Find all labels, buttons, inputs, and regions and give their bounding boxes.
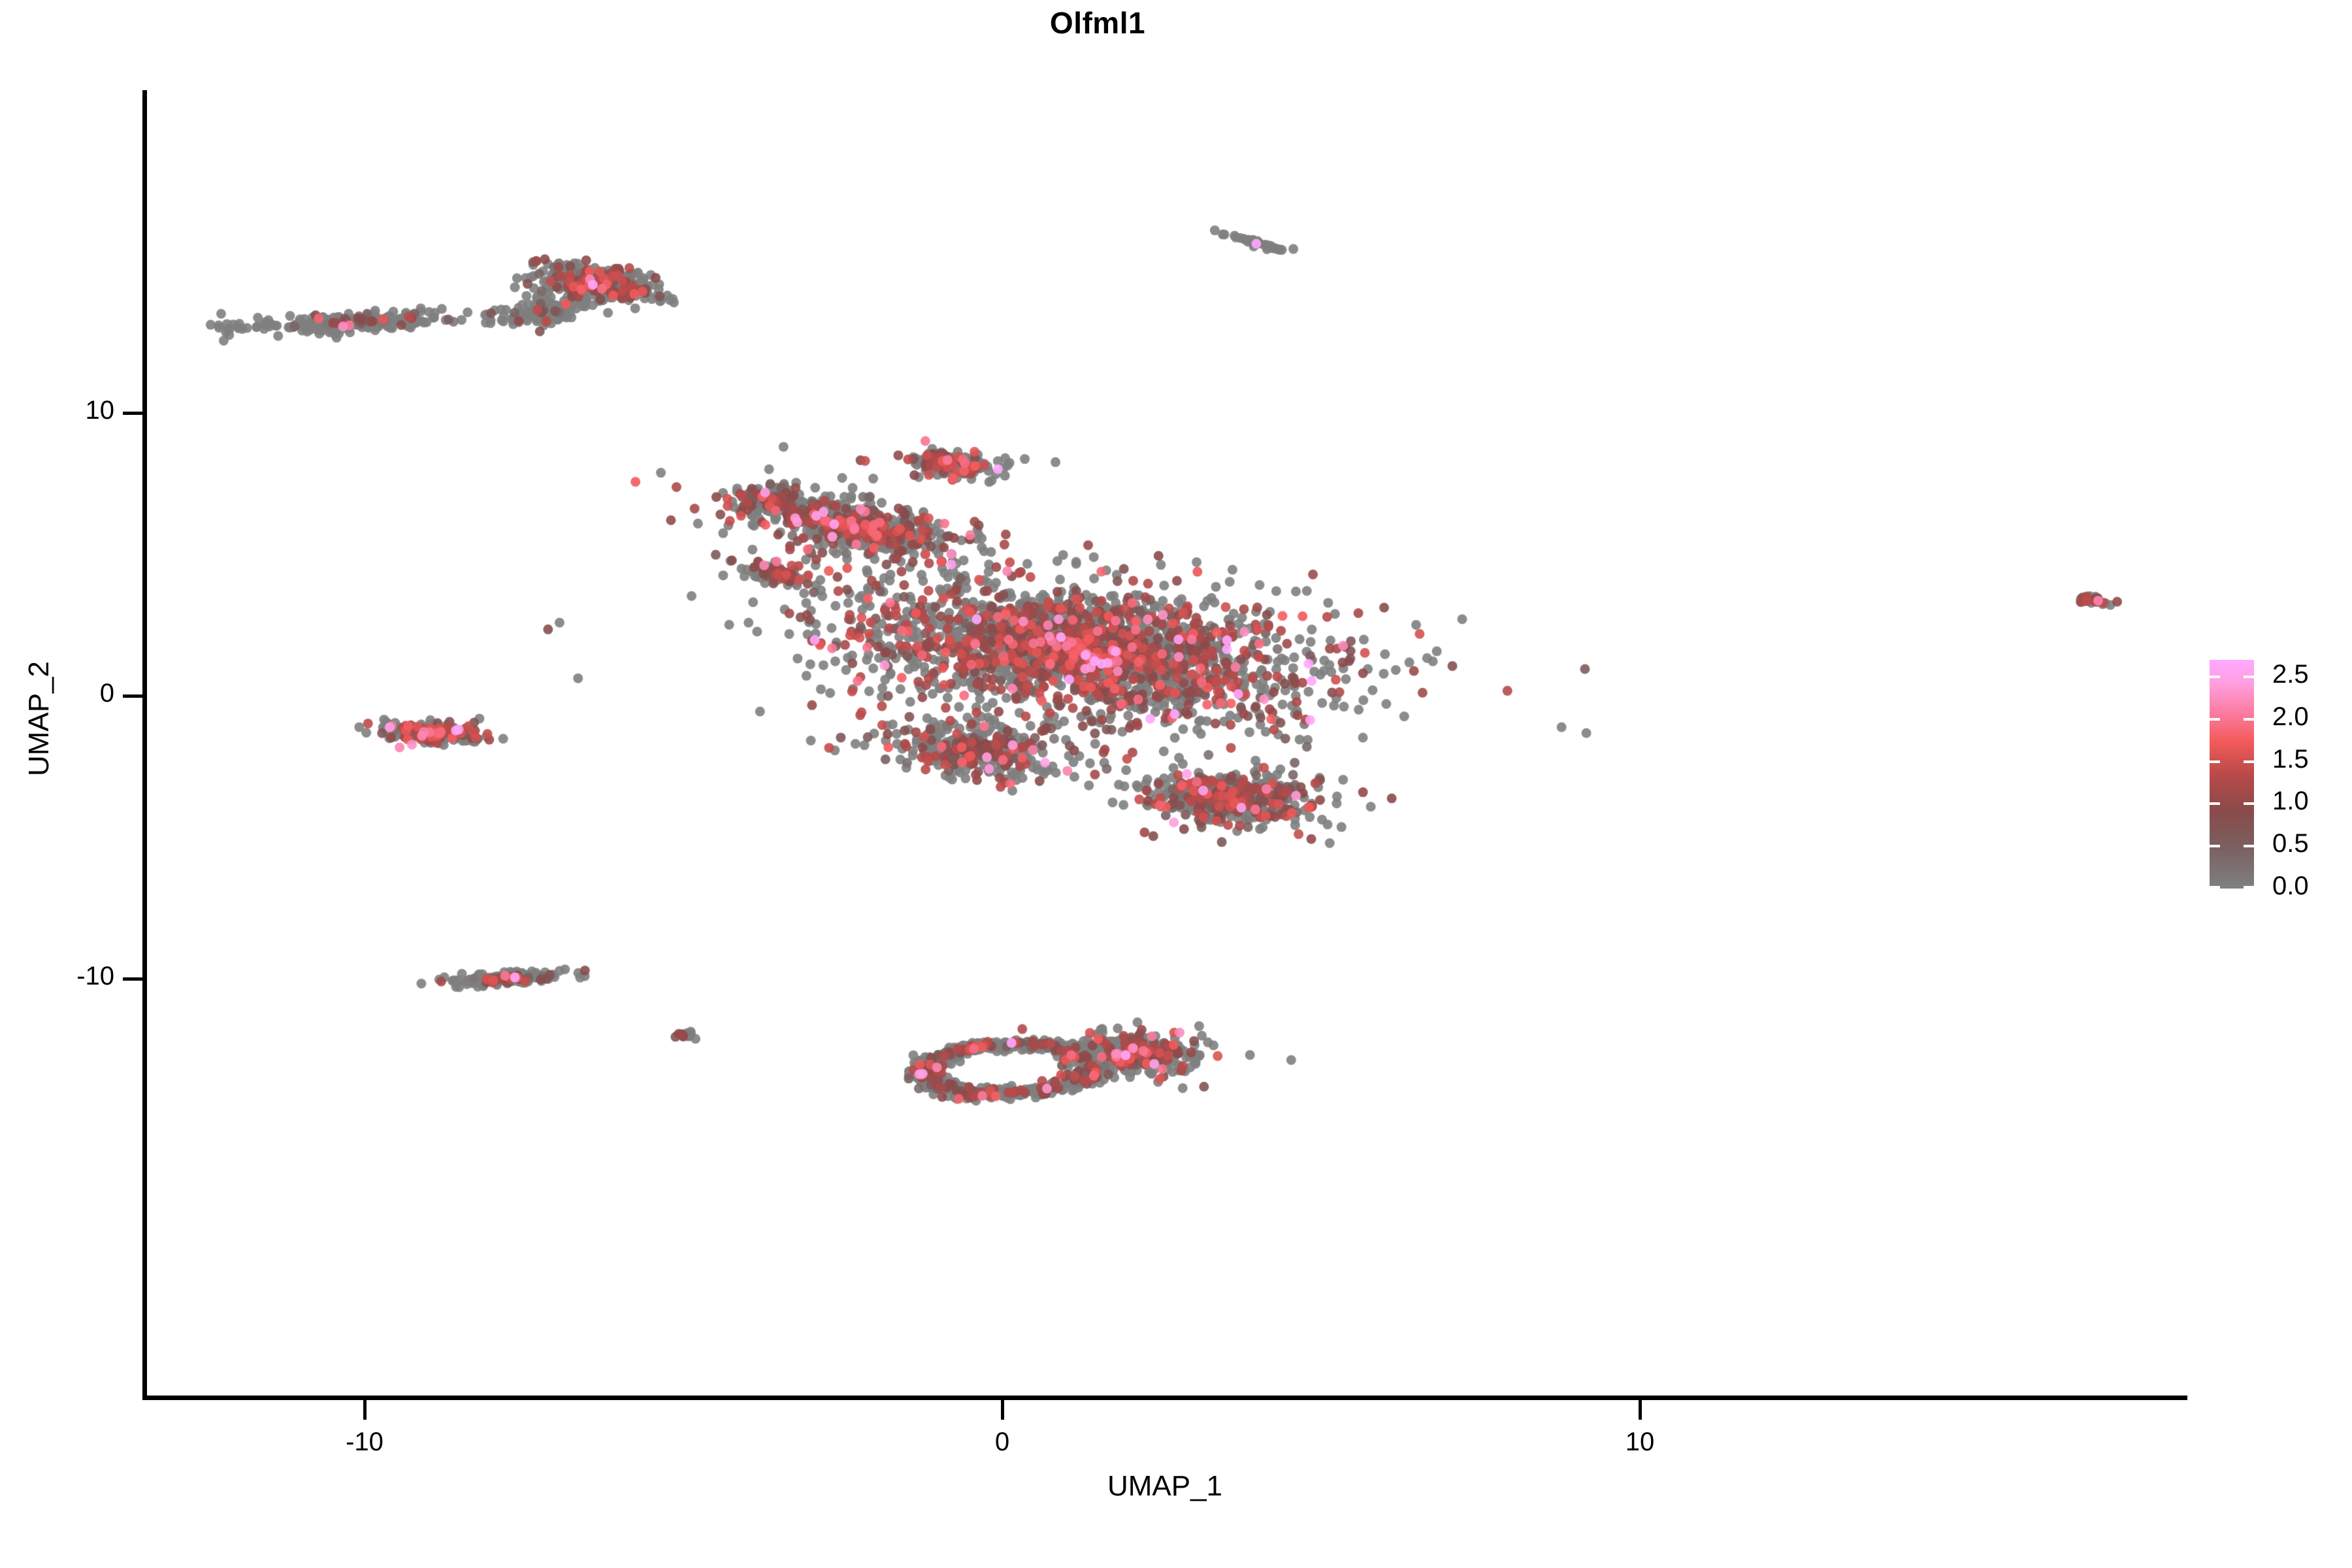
x-axis-title: UMAP_1 bbox=[142, 1470, 2187, 1503]
x-tick-label: 0 bbox=[937, 1428, 1068, 1457]
colorbar-tick-mark bbox=[2210, 718, 2220, 721]
colorbar-tick-mark bbox=[2210, 886, 2220, 889]
colorbar-tick-label: 0.5 bbox=[2272, 830, 2309, 857]
x-tick-label: 10 bbox=[1575, 1428, 1705, 1457]
plot-panel[interactable] bbox=[147, 91, 2185, 1396]
scatter-points-layer bbox=[147, 91, 2185, 1396]
colorbar-tick-mark bbox=[2210, 845, 2220, 847]
y-tick-mark bbox=[123, 412, 142, 415]
colorbar-legend[interactable]: 2.52.01.51.00.50.0 bbox=[2210, 660, 2340, 902]
y-tick-label: 10 bbox=[86, 396, 115, 425]
colorbar-tick-mark bbox=[2210, 802, 2220, 805]
x-tick-mark bbox=[1639, 1400, 1642, 1420]
colorbar-tick-mark bbox=[2244, 718, 2254, 721]
colorbar-tick-mark bbox=[2244, 760, 2254, 763]
x-tick-mark bbox=[363, 1400, 367, 1420]
x-tick-label: -10 bbox=[299, 1428, 430, 1457]
x-axis-line bbox=[142, 1396, 2187, 1400]
colorbar-tick-mark bbox=[2244, 802, 2254, 805]
y-tick-mark bbox=[123, 977, 142, 981]
colorbar-gradient bbox=[2210, 660, 2254, 889]
colorbar-tick-label: 2.5 bbox=[2272, 661, 2309, 687]
y-axis-title: UMAP_2 bbox=[23, 621, 56, 817]
y-axis-line bbox=[142, 90, 147, 1400]
y-tick-label: -10 bbox=[76, 962, 114, 991]
colorbar-tick-mark bbox=[2210, 676, 2220, 678]
y-tick-mark bbox=[123, 694, 142, 698]
colorbar-tick-label: 0.0 bbox=[2272, 873, 2309, 899]
x-tick-mark bbox=[1001, 1400, 1004, 1420]
colorbar-tick-label: 1.0 bbox=[2272, 788, 2309, 814]
colorbar-tick-label: 2.0 bbox=[2272, 704, 2309, 730]
colorbar-tick-mark bbox=[2210, 760, 2220, 763]
colorbar-tick-label: 1.5 bbox=[2272, 746, 2309, 772]
feature-plot-root: Olfml1 100-10 -10010 UMAP_1 UMAP_2 2.52.… bbox=[0, 0, 2352, 1568]
colorbar-tick-mark bbox=[2244, 676, 2254, 678]
colorbar-tick-mark bbox=[2244, 886, 2254, 889]
y-tick-label: 0 bbox=[100, 679, 114, 708]
colorbar-tick-mark bbox=[2244, 845, 2254, 847]
page-title: Olfml1 bbox=[0, 5, 2195, 41]
